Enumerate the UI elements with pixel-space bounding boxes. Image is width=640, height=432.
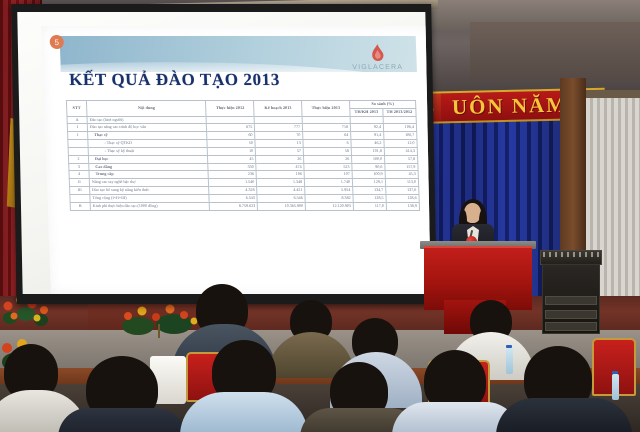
upper-right-wall (470, 22, 640, 80)
th-thuchien-2013: Thực hiện 2013 (302, 101, 350, 117)
projection-screen: 5 VIGLACERA KẾT QUẢ ĐÀO TẠO 2013 STT Nội… (17, 12, 430, 294)
rack-unit-3 (545, 322, 597, 331)
cell-kehoach-2013: 1.348 (257, 179, 305, 187)
cell-stt: 4 (69, 171, 89, 179)
cell-th-2013-2012: 57,8 (384, 155, 417, 163)
cell-thuchien-2013: 26 (304, 155, 352, 163)
cell-kehoach-2013 (254, 116, 302, 124)
rack-unit-1 (545, 296, 597, 305)
cell-th-2013-2012: 45,3 (385, 171, 418, 179)
cell-kehoach-2013: 13 (255, 140, 303, 148)
cell-thuchien-2012: 60 (207, 132, 255, 140)
flame-icon (369, 44, 385, 63)
cell-noi-dung: Trung cấp (89, 171, 209, 179)
cell-noi-dung: Đào tạo bổ sung kỹ năng kiến thức (90, 187, 210, 195)
table-row: AĐào tạo (lượt người) (67, 116, 416, 124)
cell-thuchien-2012: 50 (207, 140, 255, 148)
training-results-table: STT Nội dung Thực hiện 2012 Kế hoạch 201… (66, 100, 420, 211)
cell-thuchien-2013: 1.740 (305, 179, 353, 187)
table-row: 4Trung cấp236106107100,945,3 (69, 171, 418, 179)
cell-thuchien-2013 (302, 116, 350, 124)
cell-th-kh-2013: 100,0 (352, 155, 385, 163)
cell-th-2013-2012: 414,3 (384, 147, 417, 155)
cell-th-kh-2013: 92,4 (350, 124, 383, 132)
cell-thuchien-2012: 10 (208, 147, 256, 155)
cell-kehoach-2013: 4.421 (257, 187, 305, 195)
th-kehoach-2013: Kế hoạch 2013 (254, 101, 302, 117)
cell-noi-dung: - Thạc sỹ QTKD (88, 140, 208, 148)
cell-noi-dung: Tổng cộng (I+II+III) (90, 194, 210, 202)
table-row: BKinh phí thực hiện đào tạo (1000 đồng)8… (70, 202, 419, 210)
bottle-cap (506, 345, 512, 348)
cell-kehoach-2013: 6.546 (257, 194, 305, 202)
table-row: 1Thạc sỹ60706491,4106,7 (68, 132, 417, 140)
cell-thuchien-2012: 45 (208, 155, 256, 163)
slide-title: KẾT QUẢ ĐÀO TẠO 2013 (69, 70, 280, 90)
table-body: AĐào tạo (lượt người)IĐào tạo nâng cao t… (67, 116, 420, 210)
cell-thuchien-2013: 6 (303, 140, 351, 148)
cell-kehoach-2013: 70 (255, 132, 303, 140)
cell-thuchien-2013: 58 (303, 147, 351, 155)
cell-thuchien-2013: 5.954 (305, 187, 353, 195)
cell-th-2013-2012: 128,6 (386, 194, 419, 202)
cell-stt (70, 194, 90, 202)
cell-th-2013-2012: 12,0 (384, 140, 417, 148)
cell-th-2013-2012: 106,4 (383, 124, 416, 132)
cell-th-kh-2013: 90,6 (352, 163, 385, 171)
cell-stt: A (67, 116, 87, 124)
water-bottle (612, 374, 619, 400)
th-th-2013-2012: TH 2013/2012 (383, 108, 416, 116)
cell-thuchien-2012 (207, 116, 255, 124)
cell-th-kh-2013: 100,9 (352, 171, 385, 179)
cell-noi-dung: - Thạc sỹ kỹ thuật (88, 147, 208, 155)
cell-th-2013-2012: 157,9 (385, 163, 418, 171)
cell-noi-dung: Kinh phí thực hiện đào tạo (1000 đồng) (90, 202, 210, 210)
cell-kehoach-2013: 10.365.900 (258, 202, 306, 210)
presentation-slide: 5 VIGLACERA KẾT QUẢ ĐÀO TẠO 2013 STT Nội… (41, 26, 431, 294)
table-row: Tổng cộng (I+II+III)6.5436.5468.382128,5… (70, 194, 419, 202)
cell-thuchien-2013: 12.120.903 (305, 202, 353, 210)
table-header-row: STT Nội dung Thực hiện 2012 Kế hoạch 201… (66, 101, 415, 109)
cell-kehoach-2013: 26 (256, 155, 304, 163)
cell-noi-dung: Đào tạo (lượt người) (87, 116, 207, 124)
cell-thuchien-2012: 6.543 (209, 194, 257, 202)
audience-shoulders (58, 408, 186, 432)
table-row: IINâng cao tay nghề bậc thợ1.5401.3481.7… (69, 179, 418, 187)
cell-thuchien-2012: 1.540 (209, 179, 257, 187)
cell-th-2013-2012: 106,7 (384, 132, 417, 140)
table-row: 3Cao đẳng33047452390,6157,9 (69, 163, 418, 171)
th-stt: STT (66, 101, 87, 117)
cell-th-kh-2013: 117,0 (353, 202, 386, 210)
cell-thuchien-2012: 236 (209, 171, 257, 179)
cell-noi-dung: Cao đẳng (89, 163, 209, 171)
cell-th-2013-2012: 137,6 (386, 187, 419, 195)
th-th-kh-2013: TH/KH 2013 (350, 108, 383, 116)
cell-thuchien-2012: 330 (208, 163, 256, 171)
cell-th-kh-2013: 46,2 (351, 140, 384, 148)
cell-kehoach-2013: 57 (256, 147, 304, 155)
cell-stt: B (70, 202, 90, 210)
cell-kehoach-2013: 106 (256, 171, 304, 179)
bottle-cap (612, 371, 618, 374)
cell-thuchien-2012: 675 (207, 124, 255, 132)
th-noidung: Nội dung (86, 101, 206, 117)
cell-stt (68, 147, 88, 155)
cell-th-2013-2012: 113,0 (385, 179, 418, 187)
cell-stt: I (67, 124, 87, 132)
th-sosanh: So sánh (%) (350, 101, 416, 109)
cell-thuchien-2012: 4.328 (209, 187, 257, 195)
cell-noi-dung: Nâng cao tay nghề bậc thợ (89, 179, 209, 187)
cell-th-kh-2013: 91,4 (351, 132, 384, 140)
cell-noi-dung: Đào tạo nâng cao trình độ học vấn (87, 124, 207, 132)
table-row: IĐào tạo nâng cao trình độ học vấn675777… (67, 124, 416, 132)
logo-wordmark: VIGLACERA (352, 64, 403, 71)
mixer-knobs (543, 252, 599, 257)
cell-thuchien-2013: 523 (304, 163, 352, 171)
cell-stt: III (70, 187, 90, 195)
cell-th-2013-2012 (383, 116, 416, 124)
cell-thuchien-2013: 107 (304, 171, 352, 179)
cell-stt: 1 (68, 132, 88, 140)
conference-hall-scene: UÔN NĂM 5 (0, 0, 640, 432)
table-row: - Thạc sỹ kỹ thuật105758101,8414,3 (68, 147, 417, 155)
cell-th-kh-2013: 134,7 (353, 187, 386, 195)
table-row: IIIĐào tạo bổ sung kỹ năng kiến thức4.32… (70, 187, 419, 195)
cell-kehoach-2013: 474 (256, 163, 304, 171)
banner-text: UÔN NĂM (452, 92, 569, 120)
cell-stt: II (69, 179, 89, 187)
cell-stt: 2 (68, 155, 88, 163)
cell-stt: 3 (69, 163, 89, 171)
cell-thuchien-2013: 64 (303, 132, 351, 140)
table-row: - Thạc sỹ QTKD5013646,212,0 (68, 140, 417, 148)
cell-th-kh-2013: 101,8 (351, 147, 384, 155)
cell-thuchien-2013: 718 (303, 124, 351, 132)
rack-unit-2 (545, 310, 597, 319)
cell-th-kh-2013 (350, 116, 383, 124)
th-thuchien-2012: Thực hiện 2012 (206, 101, 254, 117)
cell-noi-dung: Thạc sỹ (88, 132, 208, 140)
cell-kehoach-2013: 777 (255, 124, 303, 132)
cell-th-kh-2013: 128,5 (353, 194, 386, 202)
cell-th-2013-2012: 138,9 (386, 202, 419, 210)
cell-noi-dung: Đại học (88, 155, 208, 163)
slide-number-badge: 5 (49, 35, 64, 49)
viglacera-logo: VIGLACERA (342, 40, 413, 74)
table-row: 2Đại học452626100,057,8 (68, 155, 417, 163)
water-bottle (506, 348, 513, 374)
cell-stt (68, 140, 88, 148)
cell-thuchien-2013: 8.382 (305, 194, 353, 202)
cell-th-kh-2013: 129,1 (352, 179, 385, 187)
audience-shoulders (496, 398, 632, 432)
cell-thuchien-2012: 8.759.623 (210, 202, 258, 210)
